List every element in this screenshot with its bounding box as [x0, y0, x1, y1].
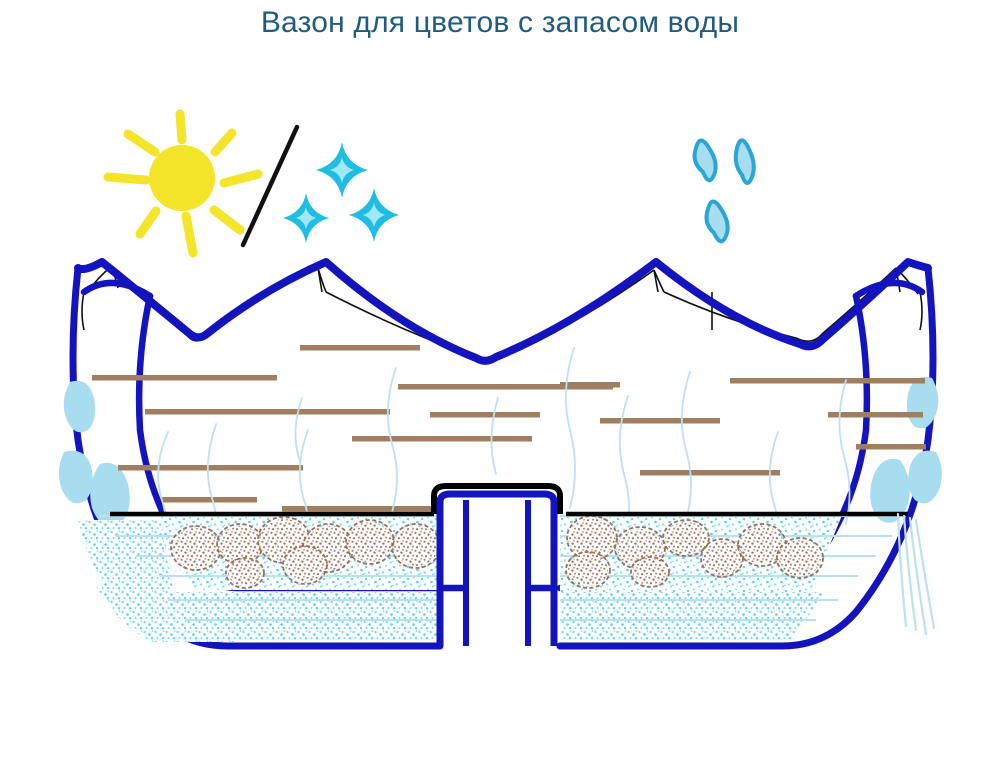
pebble-fill — [665, 522, 707, 554]
diagram-canvas: Вазон для цветов с запасом воды — [0, 0, 1000, 769]
pebble-fill — [633, 559, 667, 585]
pebble-fill — [394, 526, 438, 566]
pebble-fill — [703, 541, 741, 575]
pebble-fill — [219, 526, 261, 562]
soil-strata-bar — [92, 375, 277, 381]
left-wall-water-channel — [59, 381, 130, 527]
pebble-fill — [348, 522, 392, 562]
rim-inner-detail-lines — [82, 266, 922, 364]
flowerpot-cross-section-illustration — [0, 0, 1000, 769]
soil-strata-bar — [145, 409, 390, 415]
soil-strata-bar — [300, 345, 420, 351]
soil-strata-bar — [162, 497, 257, 503]
central-watering-tube — [434, 486, 560, 646]
wall-channel-caps — [84, 283, 922, 296]
soil-strata-bar — [856, 444, 926, 450]
soil-strata-bar — [430, 412, 540, 418]
soil-strata-bar — [352, 436, 532, 442]
diagonal-line-icon — [243, 127, 297, 245]
soil-strata-lines — [92, 345, 926, 525]
soil-strata-bar — [560, 382, 620, 388]
pebble-fill — [568, 554, 608, 586]
sparkle-stars-icon — [283, 142, 399, 243]
scalloped-crown-rim — [78, 262, 928, 361]
soil-strata-bar — [282, 506, 432, 512]
soil-strata-bar — [828, 412, 923, 418]
pebble-fill — [285, 548, 325, 582]
right-wall-water-channel — [870, 377, 942, 523]
soil-strata-bar — [600, 418, 720, 424]
sun-icon — [108, 114, 258, 253]
soil-strata-bar — [730, 378, 925, 384]
pebble-fill — [779, 540, 821, 576]
soil-strata-bar — [118, 465, 303, 471]
pebble-fill — [228, 560, 262, 586]
soil-strata-bar — [640, 470, 780, 476]
pebble-fill — [173, 528, 219, 568]
falling-water-droplets-icon — [695, 140, 754, 241]
